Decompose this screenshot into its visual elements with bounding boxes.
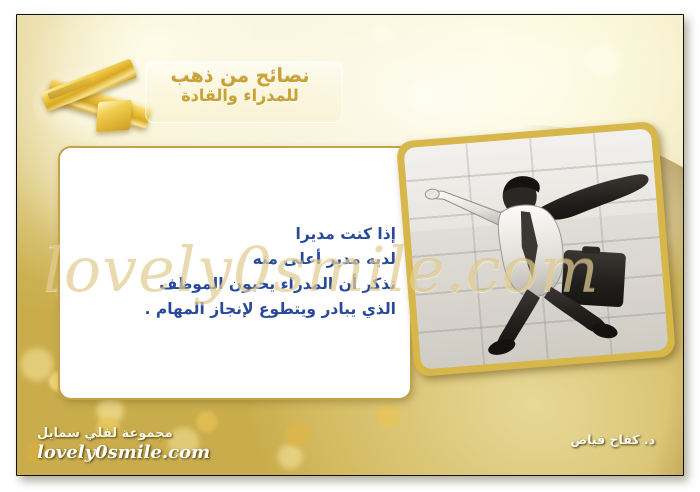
header-logo: نصائح من ذهب للمدراء والقادة bbox=[33, 43, 343, 131]
poster-image: نصائح من ذهب للمدراء والقادة إذا كنت مدي… bbox=[0, 0, 700, 492]
gold-bar-small bbox=[96, 100, 132, 133]
quote-line-1: إذا كنت مديرا bbox=[66, 222, 396, 247]
businessman-leaping-photo bbox=[403, 128, 668, 369]
credit-strip-left-text: مجموعة لفلي سمايل lovely0smile.com bbox=[37, 426, 210, 463]
logo-title-line2: للمدراء والقادة bbox=[145, 87, 335, 104]
quote-line-2: لديه مدير أعلى منه bbox=[66, 247, 396, 272]
author-credit: د. كفاح فياض bbox=[570, 432, 655, 447]
quote-line-3: تذكر أن المدراء يحبون الموظف bbox=[66, 272, 396, 297]
quote-text: إذا كنت مديرا لديه مدير أعلى منه تذكر أن… bbox=[66, 222, 396, 322]
artwork-canvas: نصائح من ذهب للمدراء والقادة إذا كنت مدي… bbox=[17, 15, 683, 475]
credit-strip-left: مجموعة لفلي سمايل lovely0smile.com bbox=[17, 403, 317, 475]
quote-card: إذا كنت مديرا لديه مدير أعلى منه تذكر أن… bbox=[58, 146, 412, 400]
credit-site-url: lovely0smile.com bbox=[37, 442, 210, 463]
leaping-businessman-figure bbox=[403, 128, 668, 369]
logo-title-text: نصائح من ذهب للمدراء والقادة bbox=[145, 61, 335, 121]
credit-group-name: مجموعة لفلي سمايل bbox=[37, 426, 210, 441]
photo-frame bbox=[396, 121, 676, 377]
logo-title-line1: نصائح من ذهب bbox=[145, 66, 335, 87]
gold-bars-icon bbox=[39, 59, 159, 131]
quote-line-4: الذي يبادر ويتطوع لإنجاز المهام . bbox=[66, 297, 396, 322]
